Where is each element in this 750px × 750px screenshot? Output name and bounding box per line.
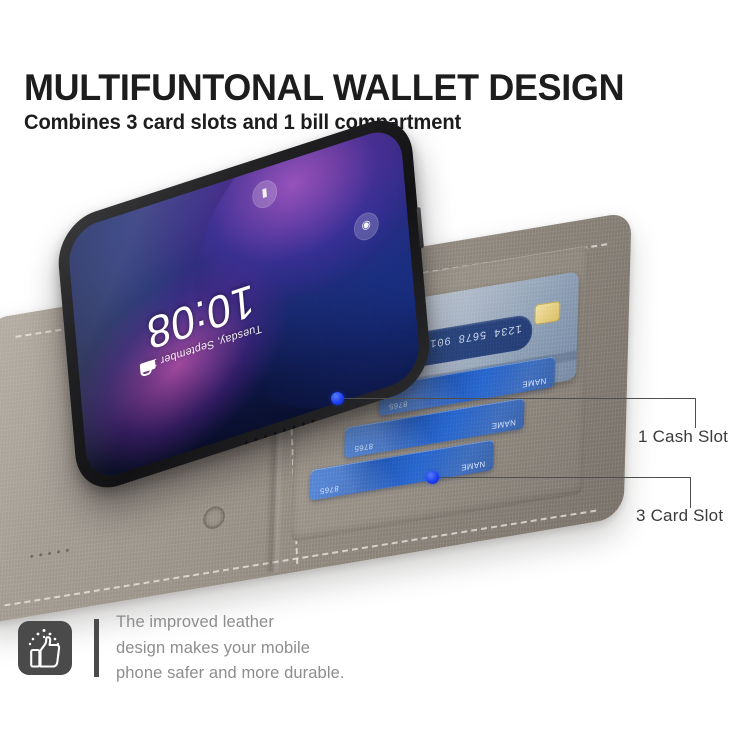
leader-line-card-slot-drop xyxy=(690,477,691,508)
card-slot-name: NAME xyxy=(461,459,486,472)
thumbs-up-icon xyxy=(18,621,72,675)
marker-dot-card-slot xyxy=(426,471,439,484)
card-slot-number: 8765 xyxy=(354,440,373,452)
side-button xyxy=(417,207,424,249)
camera-cutout-ring xyxy=(203,505,225,531)
speaker-perforations xyxy=(27,546,73,560)
card-slot-name: NAME xyxy=(522,376,547,389)
marker-dot-cash-slot xyxy=(331,392,344,405)
page-title: MULTIFUNTONAL WALLET DESIGN xyxy=(24,68,624,108)
card-slot-number: 8765 xyxy=(320,483,339,495)
leader-line-cash-slot-drop xyxy=(695,398,696,428)
callout-card-slot: 3 Card Slot xyxy=(636,506,723,526)
leader-line-card-slot xyxy=(432,477,690,478)
feature-caption: The improved leather design makes your m… xyxy=(18,610,345,687)
feature-text-line: phone safer and more durable. xyxy=(116,661,345,687)
card-number: 1234 5678 9012 xyxy=(414,320,531,352)
caption-divider-bar xyxy=(94,619,99,677)
callout-cash-slot: 1 Cash Slot xyxy=(638,427,728,447)
feature-text: The improved leather design makes your m… xyxy=(116,610,345,687)
card-slot-number: 8765 xyxy=(389,398,408,410)
leader-line-cash-slot xyxy=(337,398,695,399)
stitch-line-bottom xyxy=(5,510,597,607)
card-slot: 8765 NAME xyxy=(344,398,524,459)
card-slot-name: NAME xyxy=(492,417,517,430)
card-slot: 8765 NAME xyxy=(310,439,494,500)
product-marketing-image: MULTIFUNTONAL WALLET DESIGN Combines 3 c… xyxy=(0,0,750,750)
feature-text-line: The improved leather xyxy=(116,610,345,636)
feature-text-line: design makes your mobile xyxy=(116,636,345,662)
chip-icon xyxy=(534,301,560,326)
